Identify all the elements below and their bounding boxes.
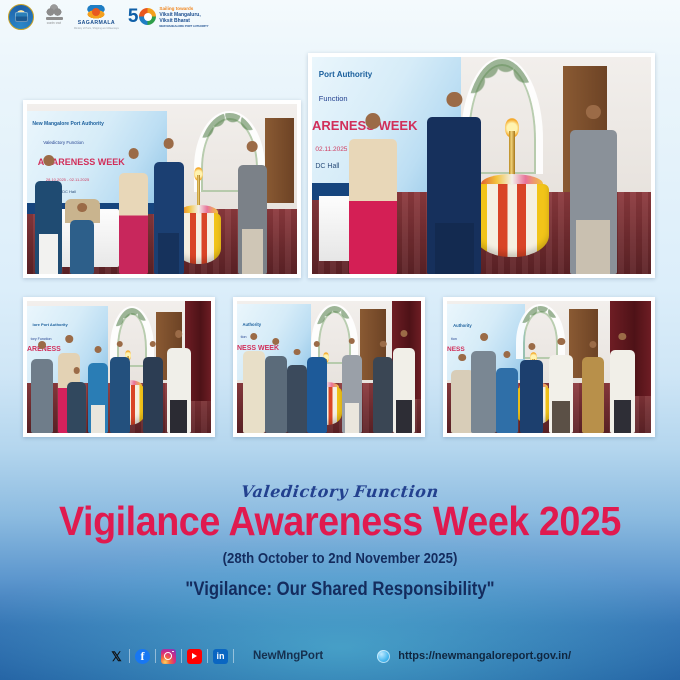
divider <box>207 649 208 663</box>
fifty-digit-five: 5 <box>128 7 139 26</box>
fifty-org-label: NEW MANGALORE PORT AUTHORITY <box>159 25 208 28</box>
event-theme: "Vigilance: Our Shared Responsibility" <box>41 579 639 601</box>
sagarmala-mark-icon <box>81 5 111 20</box>
poster-canvas: सत्यमेव जयते SAGARMALA Ministry of Ports… <box>0 0 680 680</box>
emblem-lions-icon <box>45 3 63 18</box>
divider <box>181 649 182 663</box>
footer-bar: 𝕏 f in NewMngPort https://newmangalorepo… <box>0 644 680 668</box>
instagram-icon[interactable] <box>161 649 176 664</box>
photo-bottom-center: Authority tion NESS WEEK <box>233 297 425 437</box>
event-dates: (28th October to 2nd November 2025) <box>41 550 639 567</box>
sagarmala-ministry-label: Ministry of Ports, Shipping and Waterway… <box>74 27 119 30</box>
emblem-base-icon <box>46 17 63 20</box>
fifty-tagline-line3: Viksit Bharat <box>159 18 208 24</box>
divider <box>155 649 156 663</box>
divider <box>129 649 130 663</box>
photo-bottom-right: Authority tion NESS <box>443 297 655 437</box>
x-twitter-icon[interactable]: 𝕏 <box>109 649 124 664</box>
photo-top-right: Port Authority Function ARENESS WEEK 02.… <box>308 53 655 278</box>
nmpa-roundel-logo <box>8 4 34 30</box>
fifty-digit-zero-icon <box>139 8 156 25</box>
india-emblem-logo: सत्यमेव जयते <box>43 3 65 31</box>
fifty-number: 5 <box>128 7 157 26</box>
website-url[interactable]: https://newmangaloreport.gov.in/ <box>398 650 571 662</box>
social-links: 𝕏 f in <box>109 649 239 664</box>
fifty-years-logo: 5 Sailing towards Viksit Mangaluru, Viks… <box>128 6 209 28</box>
globe-icon <box>377 650 390 663</box>
linkedin-icon[interactable]: in <box>213 649 228 664</box>
page-title: Vigilance Awareness Week 2025 <box>27 500 653 543</box>
sagarmala-logo: SAGARMALA Ministry of Ports, Shipping an… <box>74 5 119 30</box>
photo-top-left: New Mangalore Port Authority Valedictory… <box>23 100 301 278</box>
emblem-motto: सत्यमेव जयते <box>47 21 61 25</box>
divider <box>233 649 234 663</box>
social-handle: NewMngPort <box>253 650 323 662</box>
facebook-icon[interactable]: f <box>135 649 150 664</box>
sagarmala-wordmark: SAGARMALA <box>78 20 115 26</box>
header-logo-strip: सत्यमेव जयते SAGARMALA Ministry of Ports… <box>8 2 209 32</box>
youtube-icon[interactable] <box>187 649 202 664</box>
photo-bottom-left: lore Port Authority tory Function ARENES… <box>23 297 215 437</box>
